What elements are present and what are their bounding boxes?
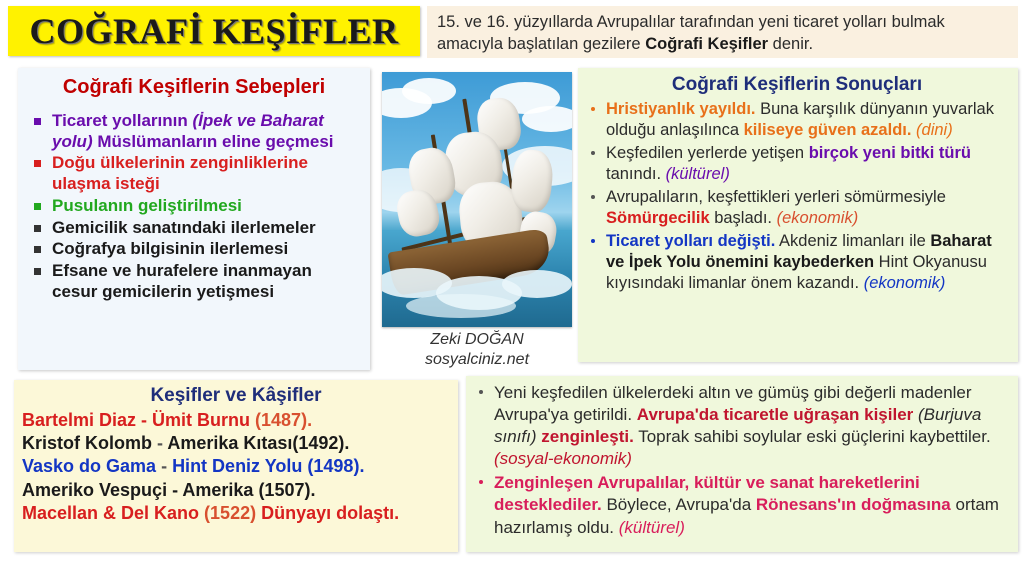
social-results-list: Yeni keşfedilen ülkelerdeki altın ve güm… <box>472 382 1010 539</box>
social-results-panel: Yeni keşfedilen ülkelerdeki altın ve güm… <box>466 376 1018 552</box>
text-segment: Toprak sahibi soylular eski güçlerini ka… <box>634 427 991 446</box>
page-title: COĞRAFİ KEŞİFLER <box>29 10 398 52</box>
social-list-item: Zenginleşen Avrupalılar, kültür ve sanat… <box>472 472 1010 538</box>
square-bullet-icon <box>34 203 41 210</box>
text-segment: Ameriko Vespuçi - Amerika <box>22 480 253 500</box>
text-segment: Bartelmi Diaz - Ümit Burnu <box>22 410 250 430</box>
explorer-row: Macellan & Del Kano (1522) Dünyayı dolaş… <box>22 502 450 525</box>
dot-bullet-icon <box>591 107 595 111</box>
explorer-row: Bartelmi Diaz - Ümit Burnu (1487). <box>22 409 450 432</box>
square-bullet-icon <box>34 160 41 167</box>
social-list-item: Yeni keşfedilen ülkelerdeki altın ve güm… <box>472 382 1010 470</box>
results-list-item: Avrupalıların, keşfettikleri yerleri söm… <box>584 187 1010 229</box>
causes-list-item: Ticaret yollarının (İpek ve Baharat yolu… <box>30 111 360 152</box>
text-segment: Keşfedilen yerlerde yetişen <box>606 144 809 162</box>
results-list: Hristiyanlık yayıldı. Buna karşılık düny… <box>584 99 1010 294</box>
text-segment: Hristiyanlık yayıldı. <box>606 100 755 118</box>
intro-bold-term: Coğrafi Keşifler <box>645 35 768 53</box>
text-segment: Müslümanların eline geçmesi <box>93 132 334 151</box>
text-segment: Ticaret yolları değişti. <box>606 232 775 250</box>
text-segment: Böylece, Avrupa'da <box>602 495 756 514</box>
text-segment: Ticaret yollarının <box>52 111 192 130</box>
explorers-panel: Keşifler ve Kâşifler Bartelmi Diaz - Ümi… <box>14 380 458 552</box>
ship-image <box>382 72 572 327</box>
attribution-site: sosyalciniz.net <box>382 350 572 370</box>
text-segment: başladı. <box>710 209 777 227</box>
text-segment: (ekonomik) <box>777 209 859 227</box>
text-segment: (1507). <box>253 480 315 500</box>
causes-list-item: Doğu ülkelerinin zenginliklerine ulaşma … <box>30 153 360 194</box>
image-attribution: Zeki DOĞAN sosyalciniz.net <box>382 330 572 371</box>
text-segment: (1487). <box>250 410 312 430</box>
text-segment: Avrupalıların, keşfettikleri yerleri söm… <box>606 188 946 206</box>
explorer-row: Vasko do Gama - Hint Deniz Yolu (1498). <box>22 455 450 478</box>
intro-definition-box: 15. ve 16. yüzyıllarda Avrupalılar taraf… <box>427 6 1018 58</box>
text-segment: Macellan & Del Kano <box>22 503 199 523</box>
text-segment: Gemicilik sanatındaki ilerlemeler <box>52 218 316 237</box>
causes-list-item: Efsane ve hurafelere inanmayan cesur gem… <box>30 261 360 302</box>
square-bullet-icon <box>34 268 41 275</box>
text-segment: Akdeniz limanları ile <box>775 232 930 250</box>
explorer-row: Kristof Kolomb - Amerika Kıtası(1492). <box>22 432 450 455</box>
explorers-rows: Bartelmi Diaz - Ümit Burnu (1487).Kristo… <box>22 409 450 525</box>
causes-list-item: Pusulanın geliştirilmesi <box>30 196 360 217</box>
text-segment: birçok yeni bitki türü <box>809 144 971 162</box>
square-bullet-icon <box>34 118 41 125</box>
text-segment: Efsane ve hurafelere inanmayan cesur gem… <box>52 261 312 301</box>
text-segment: zenginleşti. <box>541 427 634 446</box>
text-segment: Coğrafya bilgisinin ilerlemesi <box>52 239 288 258</box>
ship-illustration <box>382 72 572 327</box>
text-segment: (kültürel) <box>619 518 685 537</box>
dot-bullet-icon <box>591 239 595 243</box>
text-segment: Amerika Kıtası <box>167 433 292 453</box>
text-segment: kiliseye güven azaldı. <box>744 121 912 139</box>
text-segment: Sömürgecilik <box>606 209 710 227</box>
text-segment: (1522) <box>199 503 261 523</box>
dot-bullet-icon <box>479 480 483 484</box>
text-segment: (1492). <box>292 433 349 453</box>
title-banner: COĞRAFİ KEŞİFLER <box>8 6 420 56</box>
text-segment: Doğu ülkelerinin zenginliklerine ulaşma … <box>52 153 308 193</box>
explorers-title: Keşifler ve Kâşifler <box>22 385 450 407</box>
dot-bullet-icon <box>591 151 595 155</box>
text-segment: Kristof Kolomb <box>22 433 152 453</box>
text-segment: (1498). <box>302 456 364 476</box>
explorer-row: Ameriko Vespuçi - Amerika (1507). <box>22 479 450 502</box>
infographic-root: COĞRAFİ KEŞİFLER 15. ve 16. yüzyıllarda … <box>0 0 1024 575</box>
text-segment: Vasko do Gama <box>22 456 156 476</box>
text-segment: tanındı. <box>606 165 666 183</box>
results-title: Coğrafi Keşiflerin Sonuçları <box>584 74 1010 96</box>
text-segment: (sosyal-ekonomik) <box>494 449 632 468</box>
text-segment: (ekonomik) <box>864 274 946 292</box>
text-segment: - <box>156 456 172 476</box>
text-segment: - <box>152 433 167 453</box>
attribution-author: Zeki DOĞAN <box>382 330 572 350</box>
text-segment: Pusulanın geliştirilmesi <box>52 196 242 215</box>
results-list-item: Keşfedilen yerlerde yetişen birçok yeni … <box>584 143 1010 185</box>
results-list-item: Hristiyanlık yayıldı. Buna karşılık düny… <box>584 99 1010 141</box>
square-bullet-icon <box>34 246 41 253</box>
intro-text-after: denir. <box>768 35 813 53</box>
text-segment: Dünyayı dolaştı. <box>261 503 399 523</box>
text-segment: Hint Deniz Yolu <box>172 456 302 476</box>
results-panel: Coğrafi Keşiflerin Sonuçları Hristiyanlı… <box>578 68 1018 362</box>
causes-list: Ticaret yollarının (İpek ve Baharat yolu… <box>24 111 364 303</box>
text-segment: Rönesans'ın doğmasına <box>756 495 951 514</box>
results-list-item: Ticaret yolları değişti. Akdeniz limanla… <box>584 231 1010 294</box>
text-segment: Avrupa'da ticaretle uğraşan kişiler <box>637 405 913 424</box>
text-segment: (kültürel) <box>666 165 730 183</box>
square-bullet-icon <box>34 225 41 232</box>
causes-list-item: Gemicilik sanatındaki ilerlemeler <box>30 218 360 239</box>
dot-bullet-icon <box>591 195 595 199</box>
causes-panel: Coğrafi Keşiflerin Sebepleri Ticaret yol… <box>18 68 370 370</box>
causes-list-item: Coğrafya bilgisinin ilerlemesi <box>30 239 360 260</box>
text-segment: (dini) <box>911 121 952 139</box>
dot-bullet-icon <box>479 390 483 394</box>
causes-title: Coğrafi Keşiflerin Sebepleri <box>24 76 364 99</box>
